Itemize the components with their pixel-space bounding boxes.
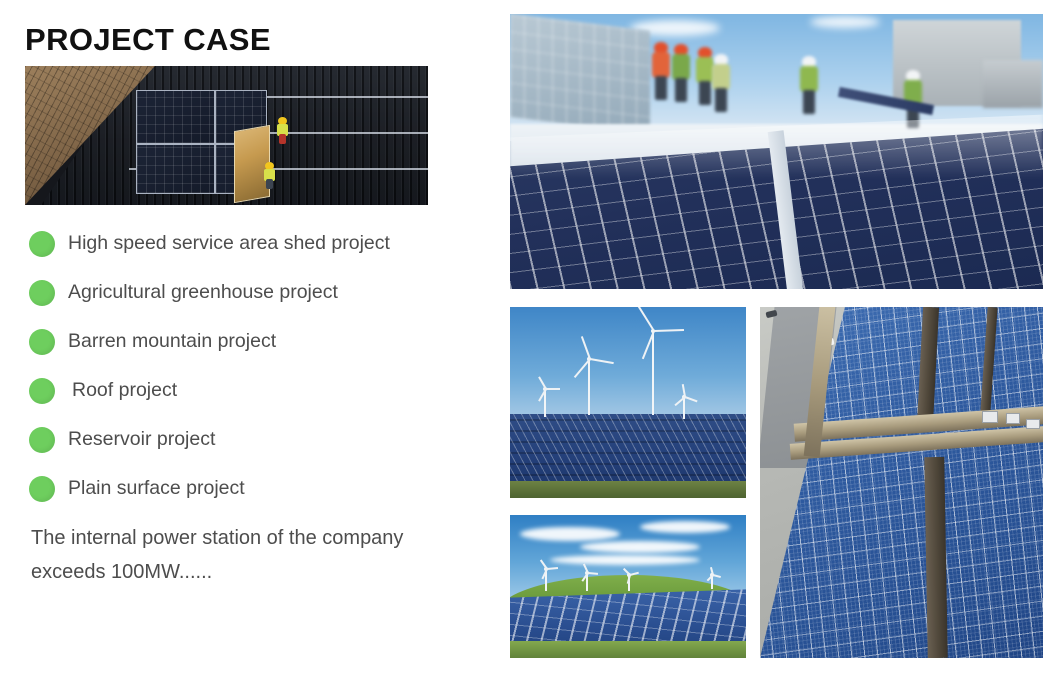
wind-turbine <box>538 567 554 591</box>
cloud <box>810 16 880 28</box>
worker-legs <box>655 76 667 100</box>
worker-legs <box>279 134 286 144</box>
solar-panel <box>136 144 215 194</box>
list-item-label: Agricultural greenhouse project <box>68 281 338 304</box>
distant-building <box>983 60 1043 108</box>
wind-turbine <box>536 387 554 417</box>
wind-turbine <box>576 357 602 415</box>
safety-vest <box>672 54 690 80</box>
worker-figure <box>710 54 732 112</box>
turbine-mast <box>652 329 654 415</box>
green-dot-icon <box>29 329 55 355</box>
summary-paragraph: The internal power station of the compan… <box>31 521 451 589</box>
worker-legs <box>675 78 687 102</box>
cloud <box>550 555 700 565</box>
green-dot-icon <box>29 231 55 257</box>
photo-aerial-rooftop <box>760 307 1043 658</box>
roof-gap <box>924 457 948 658</box>
photo-rooftop-crew <box>510 14 1043 289</box>
worker-figure <box>798 56 820 114</box>
cloud <box>640 521 730 533</box>
wind-turbine <box>622 573 636 591</box>
photo-hills-solar-field <box>510 515 746 658</box>
grass-strip <box>510 481 746 498</box>
turbine-blade <box>546 388 560 390</box>
solar-panel <box>136 90 215 144</box>
green-dot-icon <box>29 427 55 453</box>
list-item-label: High speed service area shed project <box>68 232 390 255</box>
project-list: High speed service area shed project Agr… <box>0 219 500 513</box>
wind-turbine <box>706 573 718 589</box>
list-item[interactable]: Agricultural greenhouse project <box>0 268 500 317</box>
green-dot-icon <box>29 476 55 502</box>
list-item-label: Plain surface project <box>68 477 245 500</box>
worker-figure <box>650 42 672 100</box>
wind-turbine <box>580 571 594 591</box>
green-dot-icon <box>29 378 55 404</box>
wind-turbine <box>638 329 668 415</box>
rooftop-equipment <box>1026 419 1040 429</box>
list-item[interactable]: Roof project <box>0 366 500 415</box>
photo-wind-solar-field <box>510 307 746 498</box>
photo-roof-installation <box>25 66 428 205</box>
list-item[interactable]: Reservoir project <box>0 415 500 464</box>
glass-facade-building <box>510 14 650 135</box>
turbine-blade <box>588 572 598 575</box>
list-item[interactable]: High speed service area shed project <box>0 219 500 268</box>
cloud <box>520 527 620 541</box>
turbine-mast <box>588 357 590 415</box>
list-item-label: Roof project <box>72 379 177 402</box>
safety-vest <box>712 64 730 90</box>
project-case-slide: PROJECT CASE <box>0 0 1060 689</box>
list-item[interactable]: Barren mountain project <box>0 317 500 366</box>
left-content-column: PROJECT CASE <box>0 0 500 689</box>
grass-strip <box>510 641 746 658</box>
worker-legs <box>715 88 727 112</box>
cloud <box>580 541 700 553</box>
worker-figure <box>277 117 288 143</box>
list-item[interactable]: Plain surface project <box>0 464 500 513</box>
rooftop-equipment <box>982 411 998 423</box>
list-item-label: Reservoir project <box>68 428 215 451</box>
safety-vest <box>800 66 818 92</box>
wind-turbine <box>675 395 693 419</box>
worker-figure <box>264 162 275 188</box>
worker-legs <box>803 90 815 114</box>
green-dot-icon <box>29 280 55 306</box>
page-title: PROJECT CASE <box>25 22 271 58</box>
worker-legs <box>266 179 273 189</box>
worker-figure <box>670 44 692 102</box>
rooftop-equipment <box>1006 413 1020 424</box>
list-item-label: Barren mountain project <box>68 330 276 353</box>
safety-vest <box>652 52 670 78</box>
